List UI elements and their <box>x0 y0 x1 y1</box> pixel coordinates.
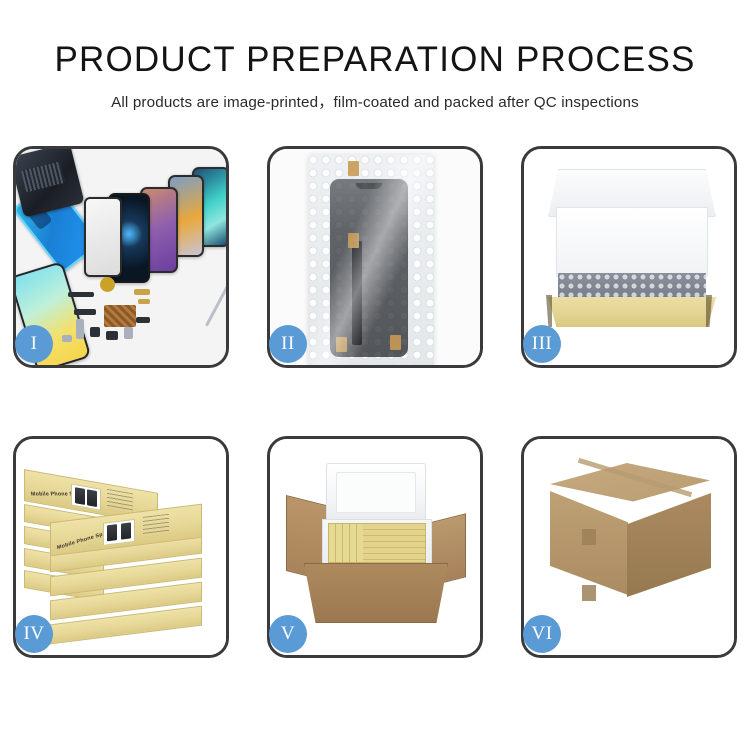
step-badge-6: VI <box>523 615 561 653</box>
part-screw-set <box>62 335 72 342</box>
part-connector <box>68 292 94 297</box>
tape-middle <box>348 233 359 248</box>
part-vibrator <box>136 317 150 323</box>
carton-tape-tab-upper <box>582 529 596 545</box>
part-sim-tray <box>124 327 133 339</box>
carton-tape-tab-lower <box>582 585 596 601</box>
bubble-wrap-bag <box>308 155 434 365</box>
screen-flex-cable <box>352 241 362 345</box>
step-badge-4: IV <box>15 615 53 653</box>
step-badge-5: V <box>269 615 307 653</box>
step-panel-3[interactable]: III <box>521 146 737 368</box>
part-flex-cable <box>134 289 150 295</box>
page-title: PRODUCT PREPARATION PROCESS <box>0 0 750 79</box>
step-panel-4[interactable]: Mobile Phone Spare Parts Mobile Phone Sp… <box>13 436 229 658</box>
part-speaker <box>100 277 115 292</box>
step-panel-6[interactable]: VI <box>521 436 737 658</box>
box-label-window <box>103 519 135 546</box>
part-speaker-mesh <box>106 331 118 340</box>
step-badge-3: III <box>523 325 561 363</box>
part-camera-module <box>76 319 84 339</box>
tape-bottom-right <box>390 335 401 350</box>
yellow-boxes-inside <box>328 523 426 563</box>
step-badge-2: II <box>269 325 307 363</box>
part-button <box>90 327 100 337</box>
tape-top <box>348 161 359 176</box>
box-label-checklist <box>143 514 169 537</box>
header: PRODUCT PREPARATION PROCESS All products… <box>0 0 750 112</box>
step-panel-1[interactable]: I <box>13 146 229 368</box>
tape-bottom-left <box>336 337 347 352</box>
phone-glass-protector <box>84 197 122 277</box>
wrapped-screen <box>330 179 408 357</box>
styrofoam-lid <box>326 463 426 523</box>
part-flex-cable-2 <box>138 299 150 304</box>
part-chip-array <box>104 305 136 327</box>
kraft-box-front <box>548 297 716 327</box>
box-label-window <box>71 483 101 510</box>
page-subtitle: All products are image-printed，film-coat… <box>0 79 750 112</box>
box-label-checklist <box>107 489 133 514</box>
step-panel-5[interactable]: V <box>267 436 483 658</box>
carton-front-wall <box>304 563 448 623</box>
part-bracket <box>74 309 96 315</box>
process-steps-grid: I II III <box>13 146 737 658</box>
foam-sheet <box>556 207 708 277</box>
bubble-wrap-fill <box>558 273 706 299</box>
step-panel-2[interactable]: II <box>267 146 483 368</box>
step-badge-1: I <box>15 325 53 363</box>
